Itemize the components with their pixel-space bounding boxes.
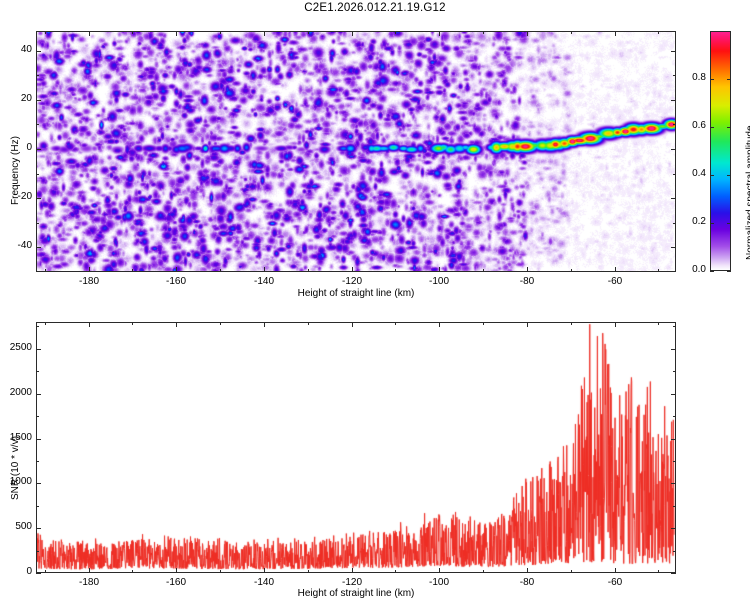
axis-tick bbox=[220, 322, 221, 325]
axis-tick bbox=[483, 570, 484, 573]
spectrogram-xtick-label: -100 bbox=[409, 276, 469, 287]
axis-tick bbox=[671, 528, 676, 529]
snr-ytick-label: 500 bbox=[0, 521, 32, 532]
axis-tick bbox=[673, 371, 676, 372]
axis-tick bbox=[36, 198, 41, 199]
colorbar bbox=[710, 31, 731, 271]
axis-tick bbox=[36, 51, 41, 52]
spectrogram-y-axis-label: Frequency (Hz) bbox=[10, 136, 21, 205]
axis-tick bbox=[36, 439, 41, 440]
axis-tick bbox=[483, 322, 484, 325]
colorbar-tick bbox=[710, 175, 714, 176]
axis-tick bbox=[658, 570, 659, 573]
colorbar-tick bbox=[727, 175, 731, 176]
axis-tick bbox=[673, 551, 676, 552]
axis-tick bbox=[671, 100, 676, 101]
axis-tick bbox=[671, 573, 676, 574]
axis-tick bbox=[36, 75, 39, 76]
axis-tick bbox=[45, 322, 46, 325]
axis-tick bbox=[89, 267, 90, 272]
colorbar-tick bbox=[710, 271, 714, 272]
snr-x-axis-label: Height of straight line (km) bbox=[236, 588, 476, 599]
spectrogram-xtick-label: -120 bbox=[322, 276, 382, 287]
colorbar-tick bbox=[710, 127, 714, 128]
axis-tick bbox=[395, 570, 396, 573]
axis-tick bbox=[395, 322, 396, 325]
axis-tick bbox=[264, 568, 265, 573]
axis-tick bbox=[395, 31, 396, 34]
axis-tick bbox=[36, 149, 41, 150]
axis-tick bbox=[615, 267, 616, 272]
axis-tick bbox=[176, 267, 177, 272]
axis-tick bbox=[571, 31, 572, 34]
axis-tick bbox=[671, 394, 676, 395]
colorbar-tick bbox=[727, 127, 731, 128]
spectrogram-xtick-label: -60 bbox=[585, 276, 645, 287]
axis-tick bbox=[671, 198, 676, 199]
snr-ytick-label: 2000 bbox=[0, 387, 32, 398]
colorbar-tick bbox=[710, 223, 714, 224]
axis-tick bbox=[352, 31, 353, 36]
axis-tick bbox=[439, 31, 440, 36]
axis-tick bbox=[132, 570, 133, 573]
axis-tick bbox=[395, 269, 396, 272]
colorbar-tick bbox=[727, 79, 731, 80]
axis-tick bbox=[658, 269, 659, 272]
spectrogram-xtick-label: -80 bbox=[497, 276, 557, 287]
axis-tick bbox=[527, 568, 528, 573]
axis-tick bbox=[439, 322, 440, 327]
spectrogram-xtick-label: -160 bbox=[146, 276, 206, 287]
axis-tick bbox=[36, 223, 39, 224]
axis-tick bbox=[308, 570, 309, 573]
colorbar-tick-label: 0.8 bbox=[672, 72, 706, 83]
snr-ytick-label: 0 bbox=[0, 566, 32, 577]
spectrogram-x-axis-label: Height of straight line (km) bbox=[236, 288, 476, 299]
axis-tick bbox=[658, 322, 659, 325]
axis-tick bbox=[671, 149, 676, 150]
axis-tick bbox=[527, 322, 528, 327]
axis-tick bbox=[673, 326, 676, 327]
axis-tick bbox=[264, 267, 265, 272]
spectrogram-xtick-label: -180 bbox=[59, 276, 119, 287]
colorbar-tick bbox=[727, 223, 731, 224]
axis-tick bbox=[264, 322, 265, 327]
axis-tick bbox=[615, 322, 616, 327]
colorbar-tick bbox=[727, 271, 731, 272]
axis-tick bbox=[483, 269, 484, 272]
snr-xtick-label: -160 bbox=[146, 577, 206, 588]
page-title: C2E1.2026.012.21.19.G12 bbox=[0, 2, 750, 14]
axis-tick bbox=[36, 506, 39, 507]
axis-tick bbox=[89, 31, 90, 36]
axis-tick bbox=[571, 570, 572, 573]
axis-tick bbox=[36, 461, 39, 462]
axis-tick bbox=[45, 31, 46, 34]
axis-tick bbox=[45, 570, 46, 573]
axis-tick bbox=[36, 483, 41, 484]
spectrogram-ytick-label: 40 bbox=[0, 44, 32, 55]
snr-xtick-label: -120 bbox=[322, 577, 382, 588]
snr-xtick-label: -60 bbox=[585, 577, 645, 588]
snr-ytick-label: 2500 bbox=[0, 342, 32, 353]
axis-tick bbox=[45, 269, 46, 272]
snr-xtick-label: -180 bbox=[59, 577, 119, 588]
axis-tick bbox=[308, 322, 309, 325]
snr-y-axis-label: SNR (10 * v/v) bbox=[10, 436, 21, 500]
axis-tick bbox=[36, 528, 41, 529]
spectrogram-canvas bbox=[37, 32, 675, 271]
axis-tick bbox=[132, 269, 133, 272]
axis-tick bbox=[527, 267, 528, 272]
axis-tick bbox=[36, 394, 41, 395]
snr-xtick-label: -80 bbox=[497, 577, 557, 588]
axis-tick bbox=[132, 31, 133, 34]
axis-tick bbox=[352, 568, 353, 573]
colorbar-tick-label: 0.4 bbox=[672, 168, 706, 179]
axis-tick bbox=[36, 247, 41, 248]
axis-tick bbox=[220, 269, 221, 272]
snr-canvas bbox=[37, 323, 675, 572]
axis-tick bbox=[176, 31, 177, 36]
axis-tick bbox=[36, 326, 39, 327]
axis-tick bbox=[36, 349, 41, 350]
axis-tick bbox=[36, 124, 39, 125]
axis-tick bbox=[36, 174, 39, 175]
axis-tick bbox=[483, 31, 484, 34]
axis-tick bbox=[264, 31, 265, 36]
axis-tick bbox=[352, 322, 353, 327]
axis-tick bbox=[571, 269, 572, 272]
axis-tick bbox=[220, 570, 221, 573]
axis-tick bbox=[673, 416, 676, 417]
axis-tick bbox=[308, 31, 309, 34]
axis-tick bbox=[671, 349, 676, 350]
spectrogram-xtick-label: -140 bbox=[234, 276, 294, 287]
axis-tick bbox=[36, 551, 39, 552]
spectrogram-ytick-label: 20 bbox=[0, 93, 32, 104]
axis-tick bbox=[176, 568, 177, 573]
colorbar-label: Normalized spectral amplitude bbox=[745, 125, 750, 260]
spectrogram-plot-area bbox=[36, 31, 676, 272]
axis-tick bbox=[673, 461, 676, 462]
colorbar-tick-label: 0.0 bbox=[672, 264, 706, 275]
axis-tick bbox=[615, 568, 616, 573]
snr-xtick-label: -100 bbox=[409, 577, 469, 588]
snr-plot-area bbox=[36, 322, 676, 573]
axis-tick bbox=[352, 267, 353, 272]
axis-tick bbox=[220, 31, 221, 34]
axis-tick bbox=[671, 483, 676, 484]
axis-tick bbox=[571, 322, 572, 325]
axis-tick bbox=[176, 322, 177, 327]
axis-tick bbox=[671, 51, 676, 52]
colorbar-tick-label: 0.2 bbox=[672, 216, 706, 227]
axis-tick bbox=[671, 439, 676, 440]
axis-tick bbox=[308, 269, 309, 272]
colorbar-tick-label: 0.6 bbox=[672, 120, 706, 131]
axis-tick bbox=[439, 267, 440, 272]
axis-tick bbox=[89, 568, 90, 573]
axis-tick bbox=[527, 31, 528, 36]
figure-root: C2E1.2026.012.21.19.G12 -180-160-140-120… bbox=[0, 0, 750, 600]
axis-tick bbox=[36, 416, 39, 417]
axis-tick bbox=[132, 322, 133, 325]
axis-tick bbox=[439, 568, 440, 573]
axis-tick bbox=[36, 371, 39, 372]
axis-tick bbox=[658, 31, 659, 34]
snr-xtick-label: -140 bbox=[234, 577, 294, 588]
axis-tick bbox=[671, 247, 676, 248]
colorbar-tick bbox=[710, 79, 714, 80]
axis-tick bbox=[36, 100, 41, 101]
axis-tick bbox=[36, 573, 41, 574]
spectrogram-ytick-label: -40 bbox=[0, 240, 32, 251]
axis-tick bbox=[89, 322, 90, 327]
axis-tick bbox=[615, 31, 616, 36]
axis-tick bbox=[673, 506, 676, 507]
